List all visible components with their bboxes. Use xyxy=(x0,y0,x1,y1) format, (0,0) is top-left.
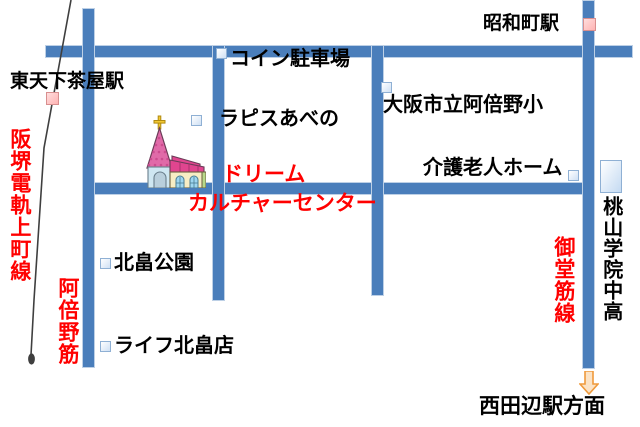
poi-marker-momoyama-gakuin[interactable] xyxy=(600,160,622,193)
poi-marker-life-kitabatake[interactable] xyxy=(100,341,111,352)
street-label-abenosuji: 阿倍野筋 xyxy=(56,277,78,365)
poi-label-life-kitabatake: ライフ北畠店 xyxy=(114,335,234,355)
station-label-showacho: 昭和町駅 xyxy=(483,14,559,33)
poi-marker-lapis-abeno[interactable] xyxy=(191,115,202,126)
road-vertical-midosuji xyxy=(582,0,595,369)
poi-label-kaigo-home: 介護老人ホーム xyxy=(423,157,562,177)
poi-marker-kaigo-home[interactable] xyxy=(568,170,579,181)
rail-label-hankai-uemachi: 阪堺電軌上町線 xyxy=(8,128,30,282)
road-vertical-abenosuji xyxy=(82,8,95,368)
station-label-higashi-tengachaya: 東天下茶屋駅 xyxy=(10,72,124,91)
poi-label-lapis-abeno: ラピスあべの xyxy=(219,108,339,128)
down-arrow-icon xyxy=(579,371,599,395)
destination-label-line1: ドリーム xyxy=(222,164,305,185)
poi-marker-kitabatake-park[interactable] xyxy=(100,258,111,269)
street-label-midosuji: 御堂筋線 xyxy=(552,236,574,324)
station-marker-higashi-tengachaya[interactable] xyxy=(46,92,59,105)
station-marker-showacho[interactable] xyxy=(583,18,596,31)
map-canvas: 東天下茶屋駅 昭和町駅 コイン駐車場 ラピスあべの 大阪市立阿倍野小 介護老人ホ… xyxy=(0,0,640,427)
poi-label-momoyama-gakuin: 桃山学院中高 xyxy=(601,196,622,322)
poi-label-abeno-shogakko: 大阪市立阿倍野小 xyxy=(383,94,543,114)
destination-label-line2: カルチャーセンター xyxy=(188,193,377,214)
poi-marker-coin-parking[interactable] xyxy=(216,48,227,59)
poi-label-coin-parking: コイン駐車場 xyxy=(230,48,350,68)
poi-label-kitabatake-park: 北畠公園 xyxy=(114,252,194,272)
direction-label-nishitanabe: 西田辺駅方面 xyxy=(479,396,605,417)
